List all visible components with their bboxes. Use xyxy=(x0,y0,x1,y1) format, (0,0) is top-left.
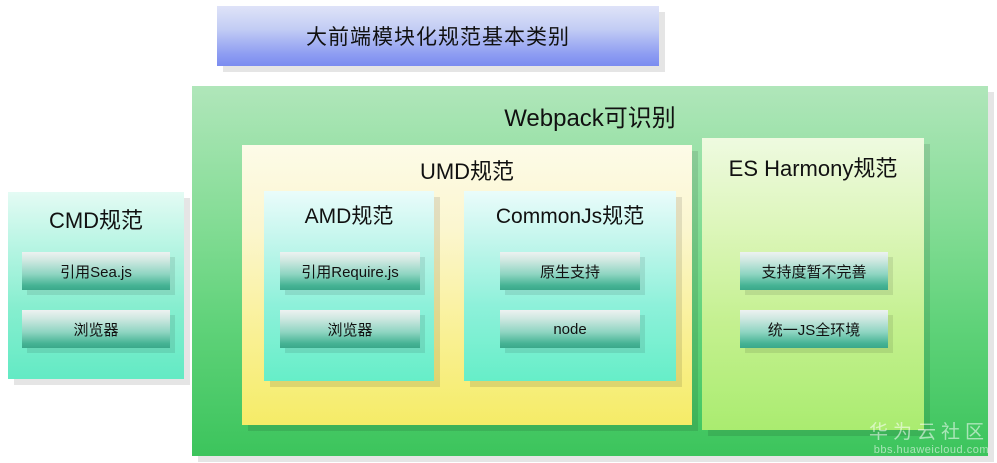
group-title-umd: UMD规范 xyxy=(242,154,692,186)
commonjs-item-1: node xyxy=(500,310,640,348)
diagram-title-banner: 大前端模块化规范基本类别 xyxy=(217,6,659,66)
group-title-amd: AMD规范 xyxy=(264,200,434,230)
group-title-commonjs: CommonJs规范 xyxy=(464,200,676,230)
group-title-es-harmony: ES Harmony规范 xyxy=(702,151,924,183)
page-title: 大前端模块化规范基本类别 xyxy=(306,21,570,51)
es-harmony-item-1: 统一JS全环境 xyxy=(740,310,888,348)
group-title-cmd: CMD规范 xyxy=(8,203,184,235)
amd-item-0: 引用Require.js xyxy=(280,252,420,290)
cmd-item-0: 引用Sea.js xyxy=(22,252,170,290)
es-harmony-item-0: 支持度暂不完善 xyxy=(740,252,888,290)
cmd-item-1: 浏览器 xyxy=(22,310,170,348)
group-title-webpack: Webpack可识别 xyxy=(192,98,988,133)
commonjs-item-0: 原生支持 xyxy=(500,252,640,290)
amd-item-1: 浏览器 xyxy=(280,310,420,348)
